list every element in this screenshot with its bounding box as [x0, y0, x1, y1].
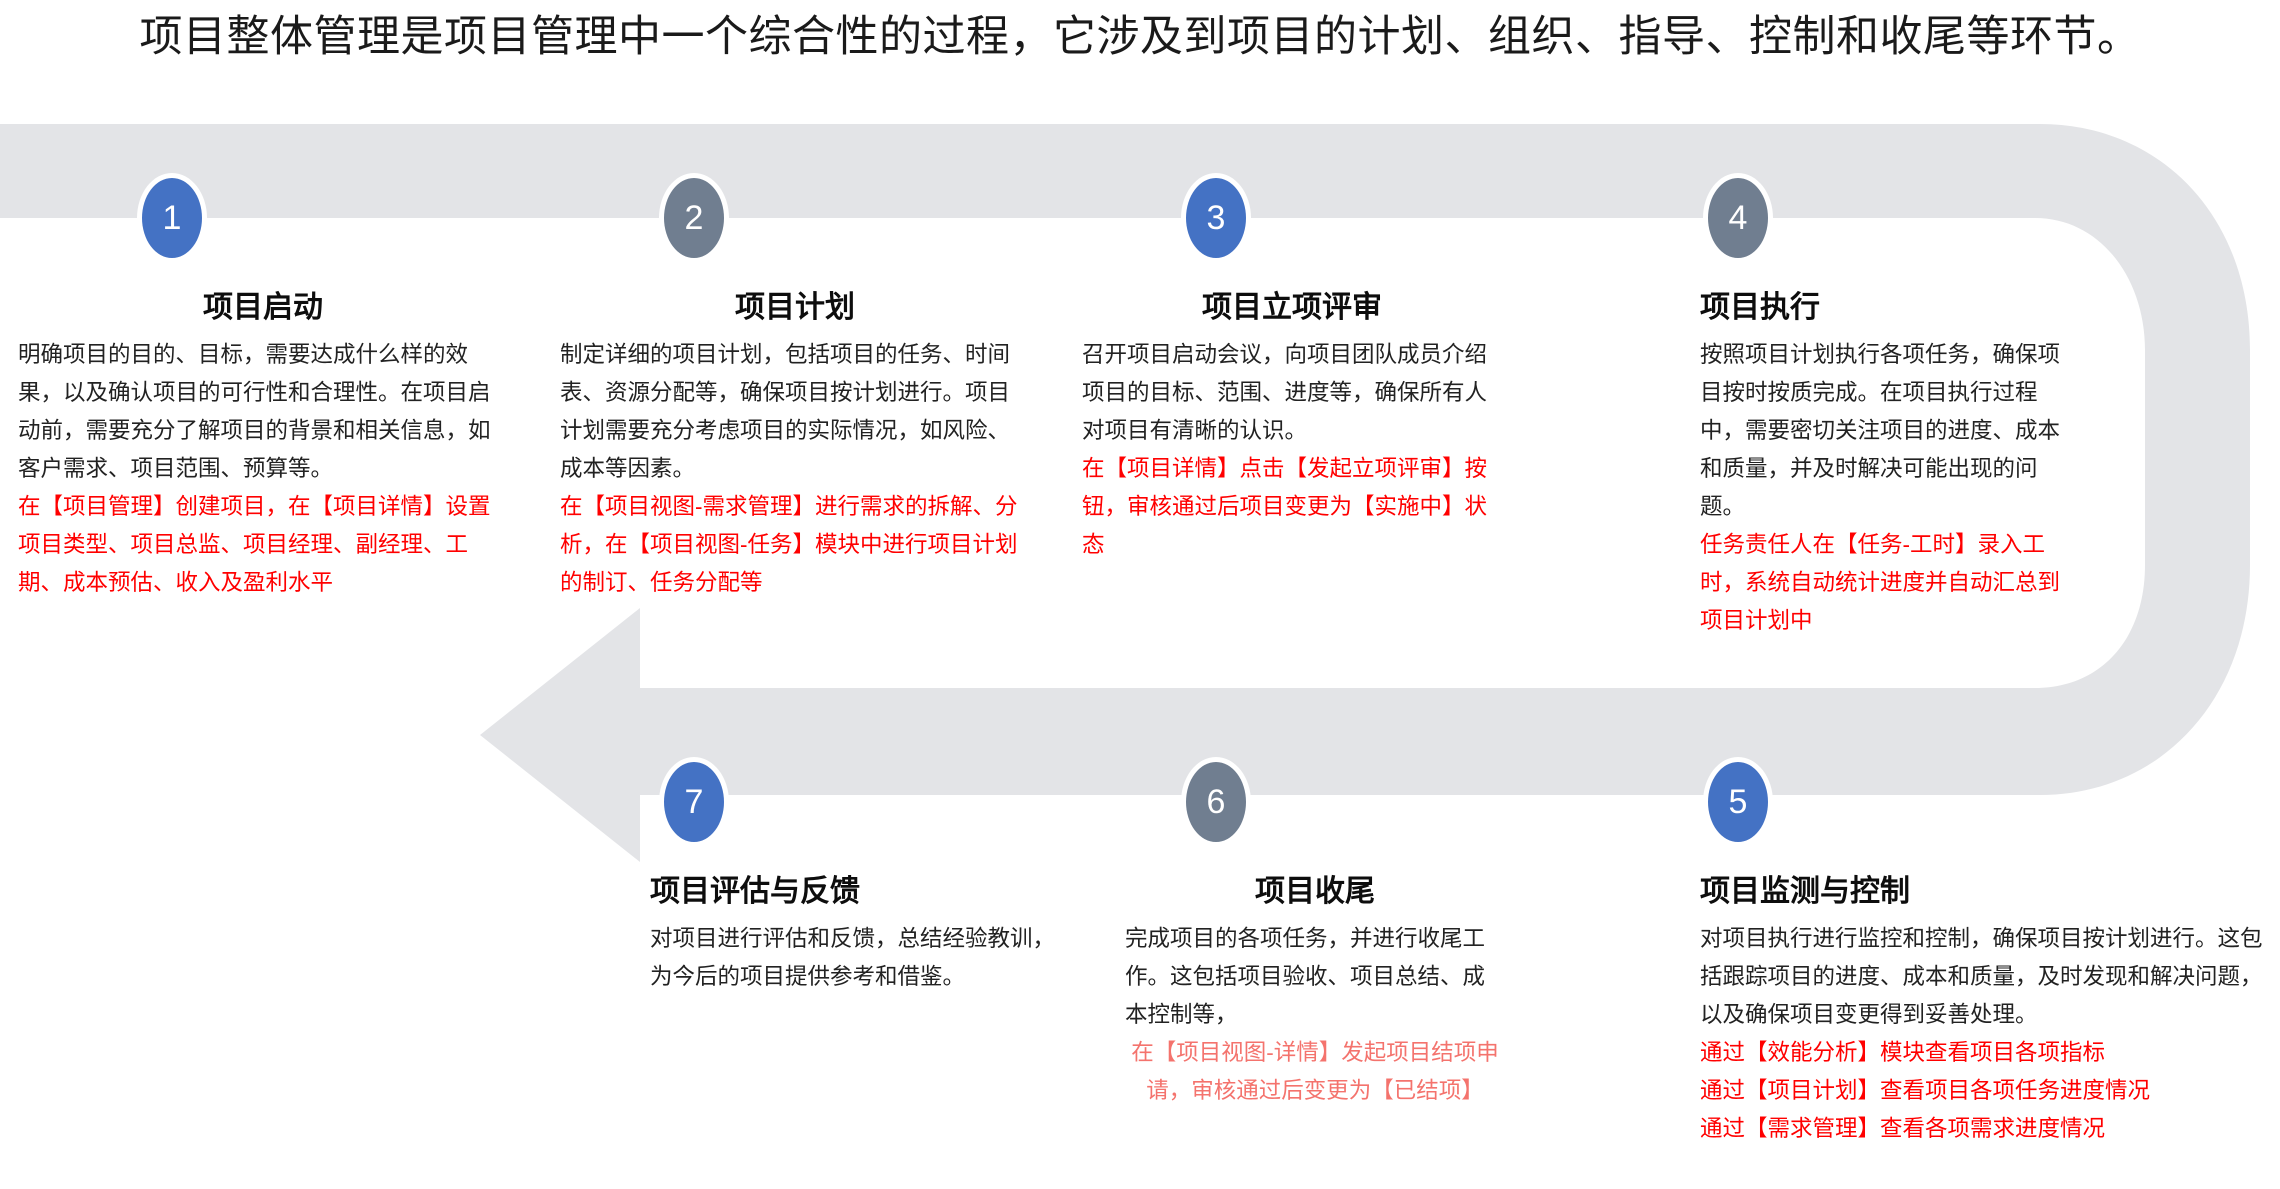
- step-5-note-2: 通过【项目计划】查看项目各项任务进度情况: [1700, 1072, 2270, 1110]
- step-2-body: 制定详细的项目计划，包括项目的任务、时间表、资源分配等，确保项目按计划进行。项目…: [560, 336, 1030, 488]
- step-badge-6[interactable]: 6: [1186, 762, 1246, 842]
- step-2-title: 项目计划: [560, 288, 1030, 328]
- step-1-body: 明确项目的目的、目标，需要达成什么样的效果，以及确认项目的可行性和合理性。在项目…: [18, 336, 508, 488]
- step-1-note: 在【项目管理】创建项目，在【项目详情】设置项目类型、项目总监、项目经理、副经理、…: [18, 488, 508, 602]
- step-badge-5[interactable]: 5: [1708, 762, 1768, 842]
- step-badge-3[interactable]: 3: [1186, 178, 1246, 258]
- step-card-1: 项目启动 明确项目的目的、目标，需要达成什么样的效果，以及确认项目的可行性和合理…: [18, 288, 508, 602]
- step-badge-7[interactable]: 7: [664, 762, 724, 842]
- step-badge-2[interactable]: 2: [664, 178, 724, 258]
- step-7-title: 项目评估与反馈: [650, 872, 1070, 912]
- step-6-title: 项目收尾: [1125, 872, 1505, 912]
- step-4-note: 任务责任人在【任务-工时】录入工时，系统自动统计进度并自动汇总到项目计划中: [1700, 526, 2060, 640]
- infographic-canvas: 项目整体管理是项目管理中一个综合性的过程，它涉及到项目的计划、组织、指导、控制和…: [0, 0, 2280, 1189]
- step-card-6: 项目收尾 完成项目的各项任务，并进行收尾工作。这包括项目验收、项目总结、成本控制…: [1125, 872, 1505, 1110]
- step-5-note-1: 通过【效能分析】模块查看项目各项指标: [1700, 1034, 2270, 1072]
- step-card-7: 项目评估与反馈 对项目进行评估和反馈，总结经验教训，为今后的项目提供参考和借鉴。: [650, 872, 1070, 996]
- step-3-body: 召开项目启动会议，向项目团队成员介绍项目的目标、范围、进度等，确保所有人对项目有…: [1082, 336, 1502, 450]
- step-card-5: 项目监测与控制 对项目执行进行监控和控制，确保项目按计划进行。这包括跟踪项目的进…: [1700, 872, 2270, 1148]
- step-7-body: 对项目进行评估和反馈，总结经验教训，为今后的项目提供参考和借鉴。: [650, 920, 1070, 996]
- step-1-title: 项目启动: [18, 288, 508, 328]
- step-3-title: 项目立项评审: [1082, 288, 1502, 328]
- step-badge-1[interactable]: 1: [142, 178, 202, 258]
- step-5-title: 项目监测与控制: [1700, 872, 2270, 912]
- step-badge-4[interactable]: 4: [1708, 178, 1768, 258]
- step-6-note: 在【项目视图-详情】发起项目结项申请，审核通过后变更为【已结项】: [1125, 1034, 1505, 1110]
- step-card-4: 项目执行 按照项目计划执行各项任务，确保项目按时按质完成。在项目执行过程中，需要…: [1700, 288, 2060, 640]
- step-6-body: 完成项目的各项任务，并进行收尾工作。这包括项目验收、项目总结、成本控制等，: [1125, 920, 1505, 1034]
- step-card-3: 项目立项评审 召开项目启动会议，向项目团队成员介绍项目的目标、范围、进度等，确保…: [1082, 288, 1502, 564]
- step-2-note: 在【项目视图-需求管理】进行需求的拆解、分析，在【项目视图-任务】模块中进行项目…: [560, 488, 1030, 602]
- step-card-2: 项目计划 制定详细的项目计划，包括项目的任务、时间表、资源分配等，确保项目按计划…: [560, 288, 1030, 602]
- step-5-body: 对项目执行进行监控和控制，确保项目按计划进行。这包括跟踪项目的进度、成本和质量，…: [1700, 920, 2270, 1034]
- step-4-body: 按照项目计划执行各项任务，确保项目按时按质完成。在项目执行过程中，需要密切关注项…: [1700, 336, 2060, 526]
- step-3-note: 在【项目详情】点击【发起立项评审】按钮，审核通过后项目变更为【实施中】状态: [1082, 450, 1502, 564]
- step-4-title: 项目执行: [1700, 288, 2060, 328]
- step-5-note-3: 通过【需求管理】查看各项需求进度情况: [1700, 1110, 2270, 1148]
